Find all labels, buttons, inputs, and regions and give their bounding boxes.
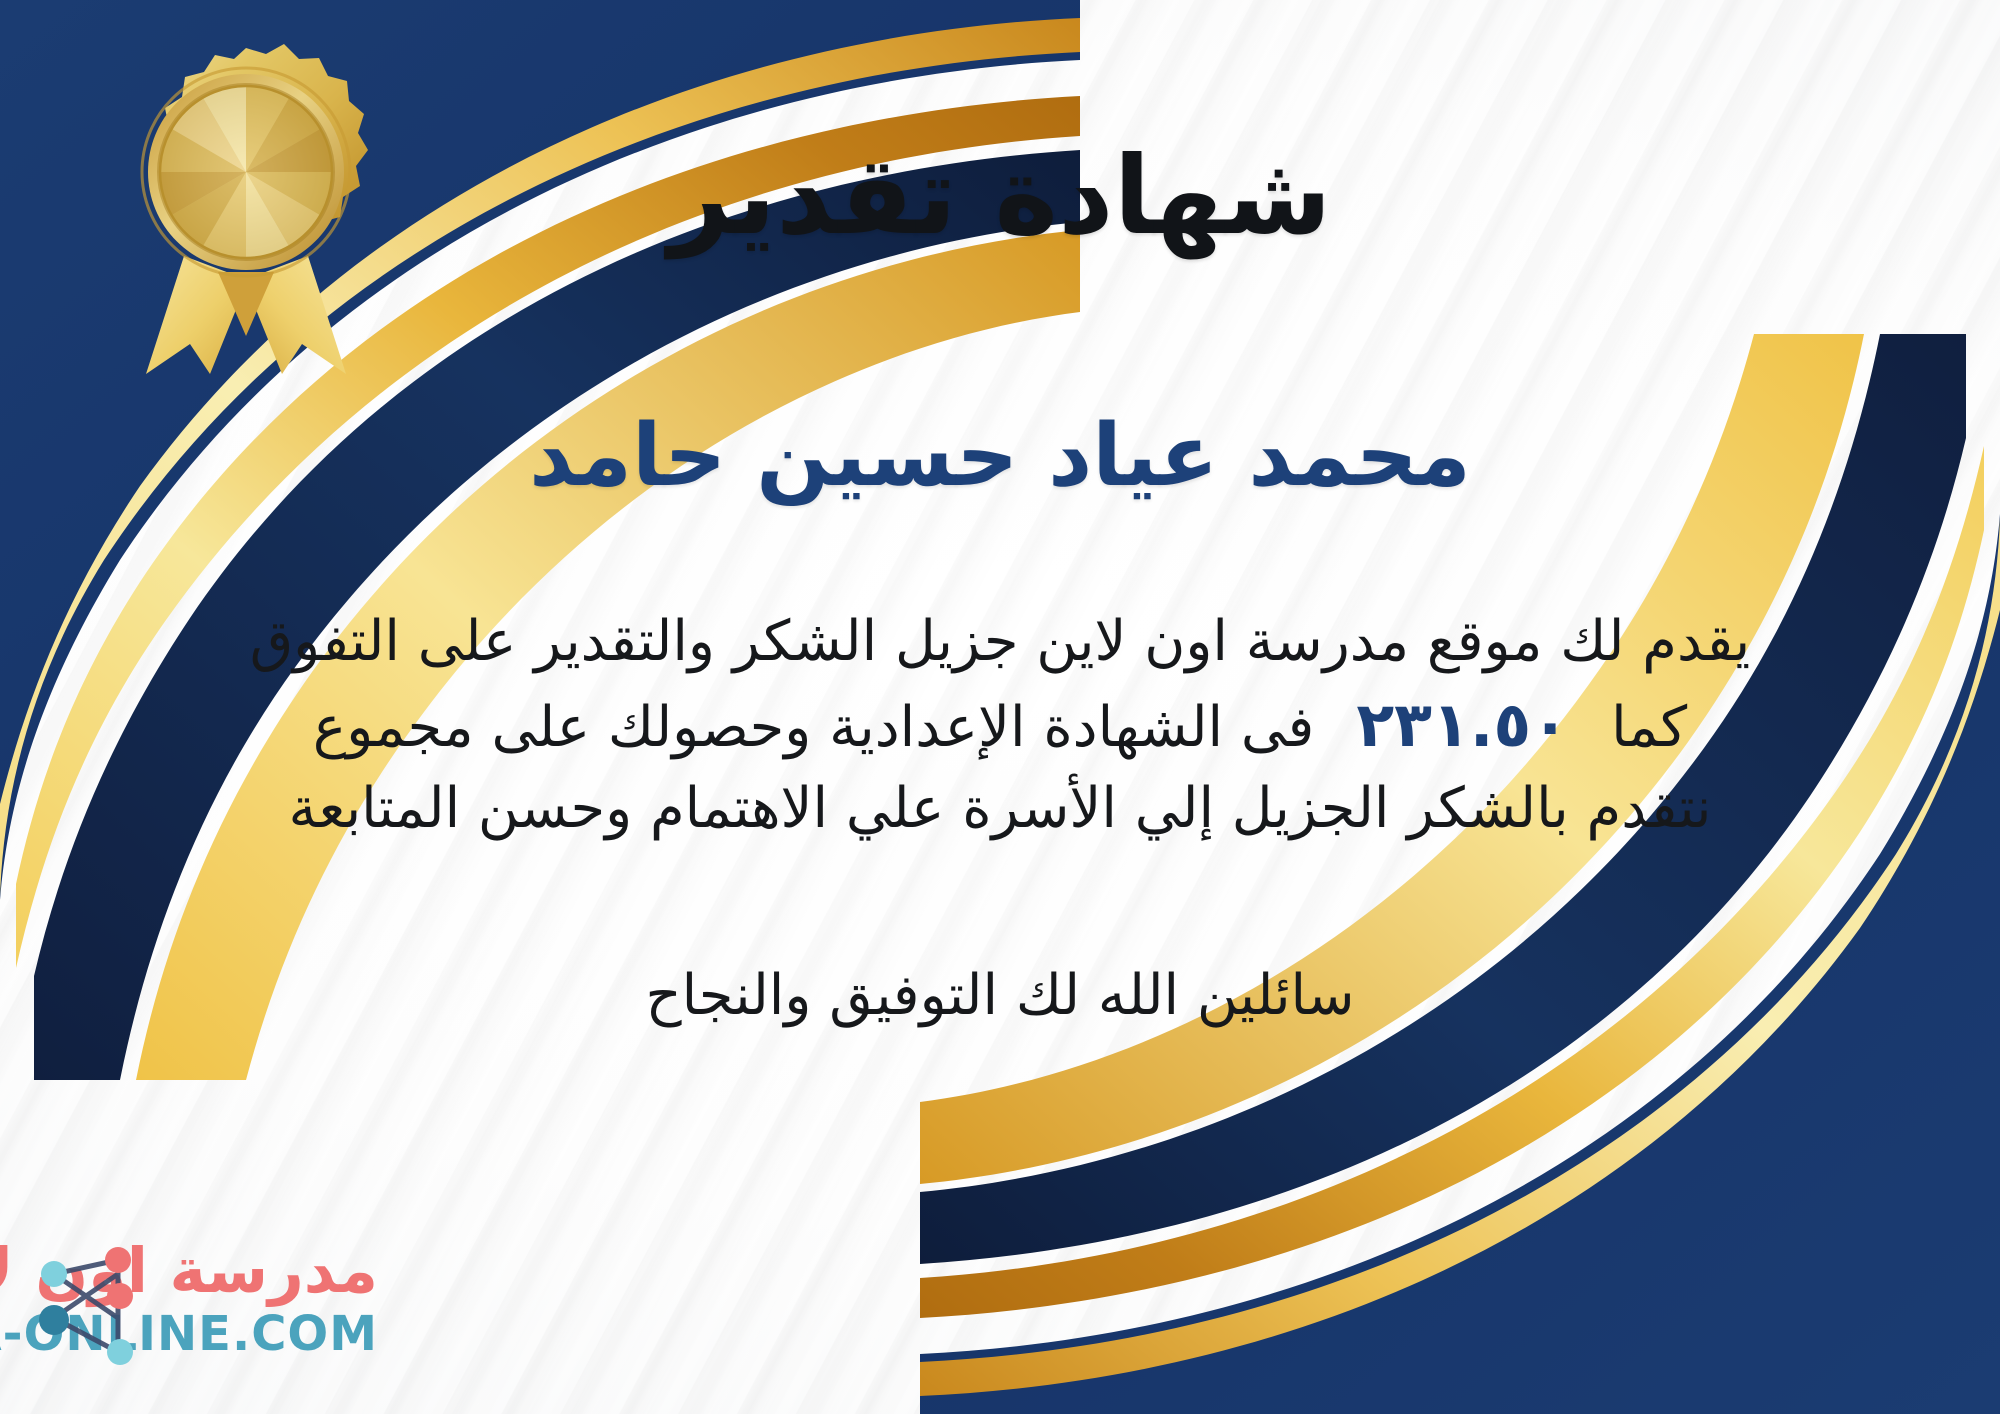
recipient-name: محمد عياد حسين حامد — [529, 407, 1471, 506]
network-nodes-icon — [30, 1240, 142, 1370]
body-line-2-suffix: كما — [1611, 688, 1687, 768]
certificate-body: يقدم لك موقع مدرسة اون لاين جزيل الشكر و… — [70, 602, 1930, 849]
page-title: شهادة تقدير — [668, 138, 1331, 257]
body-line-2: كما ٢٣١.٥٠ فى الشهادة الإعدادية وحصولك ع… — [70, 681, 1930, 769]
closing-wish: سائلين الله لك التوفيق والنجاح — [645, 957, 1354, 1035]
certificate-content: شهادة تقدير محمد عياد حسين حامد يقدم لك … — [0, 0, 2000, 1414]
body-line-1: يقدم لك موقع مدرسة اون لاين جزيل الشكر و… — [70, 602, 1930, 682]
body-line-2-prefix: فى الشهادة الإعدادية وحصولك على مجموع — [313, 688, 1315, 768]
certificate-page: شهادة تقدير محمد عياد حسين حامد يقدم لك … — [0, 0, 2000, 1414]
site-logo[interactable]: مدرسة اون لاين MADRSA-ONLINE.COM — [26, 1230, 496, 1380]
total-score-value: ٢٣١.٥٠ — [1314, 681, 1611, 769]
body-line-3: نتقدم بالشكر الجزيل إلي الأسرة علي الاهت… — [70, 769, 1930, 849]
